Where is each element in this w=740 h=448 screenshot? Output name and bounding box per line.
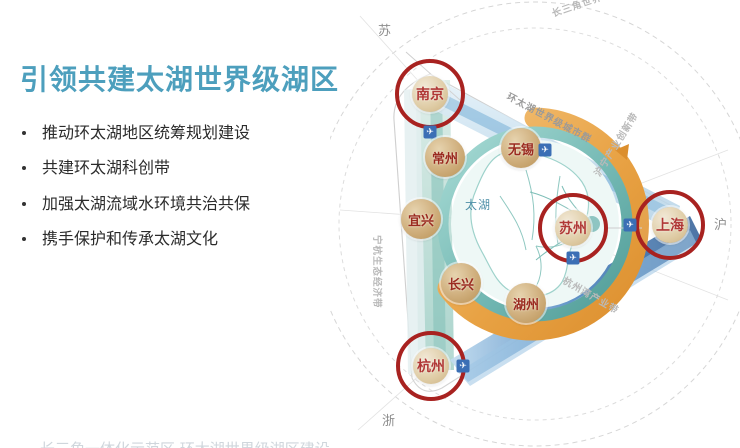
slide-root: 引领共建太湖世界级湖区 推动环太湖地区统筹规划建设 共建环太湖科创带 加强太湖流… [0, 0, 740, 448]
airport-plane-icon: ✈ [457, 360, 470, 373]
text-panel: 引领共建太湖世界级湖区 推动环太湖地区统筹规划建设 共建环太湖科创带 加强太湖流… [0, 0, 372, 448]
city-node-wuxi[interactable]: 无锡 ✈ [501, 128, 541, 168]
list-item: 携手保护和传承太湖文化 [16, 230, 366, 248]
city-coin: 长兴 [441, 263, 481, 303]
city-node-changxing[interactable]: 长兴 [441, 263, 481, 303]
list-item: 推动环太湖地区统筹规划建设 [16, 124, 366, 142]
list-item: 共建环太湖科创带 [16, 159, 366, 177]
highlight-ring [395, 59, 465, 129]
airport-plane-icon: ✈ [567, 252, 580, 265]
airport-plane-icon: ✈ [539, 144, 552, 157]
city-coin: 常州 [425, 137, 465, 177]
city-node-hangzhou[interactable]: 杭州 ✈ [413, 348, 449, 384]
bottom-caption: 长三角一体化示范区 环太湖世界级湖区建设 [40, 438, 330, 448]
bullet-dot-icon [22, 166, 26, 170]
arc-caption-ninghang-belt: 宁杭生态经济带 [371, 235, 385, 309]
city-coin: 宜兴 [401, 199, 441, 239]
lake-name-label: 太湖 [465, 196, 491, 213]
province-label-zhe: 浙 [382, 410, 395, 429]
city-coin: 湖州 [506, 283, 546, 323]
city-node-suzhou[interactable]: 苏州 ✈ [555, 210, 591, 246]
city-label: 无锡 [508, 139, 534, 158]
city-node-shanghai[interactable]: 上海 ✈ [652, 207, 688, 243]
highlight-ring [396, 331, 466, 401]
page-title: 引领共建太湖世界级湖区 [20, 58, 339, 98]
list-item: 加强太湖流域水环境共治共保 [16, 195, 366, 213]
city-node-yixing[interactable]: 宜兴 [401, 199, 441, 239]
airport-plane-icon: ✈ [624, 219, 637, 232]
list-item-label: 加强太湖流域水环境共治共保 [42, 194, 250, 213]
city-label: 湖州 [513, 294, 539, 313]
province-label-hu: 沪 [714, 214, 727, 233]
taihu-region-map: 苏 浙 沪 长三角世界级城市群 环太湖世界级城市群 沪宁产业创新带 宁杭生态经济… [330, 0, 740, 448]
highlight-ring [635, 190, 705, 260]
bullet-dot-icon [22, 131, 26, 135]
list-item-label: 携手保护和传承太湖文化 [42, 229, 218, 248]
city-label: 长兴 [448, 274, 474, 293]
city-label: 宜兴 [408, 210, 434, 229]
bullet-list: 推动环太湖地区统筹规划建设 共建环太湖科创带 加强太湖流域水环境共治共保 携手保… [16, 124, 366, 266]
list-item-label: 共建环太湖科创带 [42, 158, 170, 177]
bullet-dot-icon [22, 237, 26, 241]
city-node-nanjing[interactable]: 南京 ✈ [412, 76, 448, 112]
city-coin: 无锡 [501, 128, 541, 168]
province-label-su: 苏 [378, 20, 391, 39]
list-item-label: 推动环太湖地区统筹规划建设 [42, 123, 250, 142]
bottom-caption-strip: 长三角一体化示范区 环太湖世界级湖区建设 [0, 438, 740, 448]
bullet-dot-icon [22, 202, 26, 206]
city-node-huzhou[interactable]: 湖州 [506, 283, 546, 323]
city-label: 常州 [432, 148, 458, 167]
city-node-changzhou[interactable]: 常州 [425, 137, 465, 177]
